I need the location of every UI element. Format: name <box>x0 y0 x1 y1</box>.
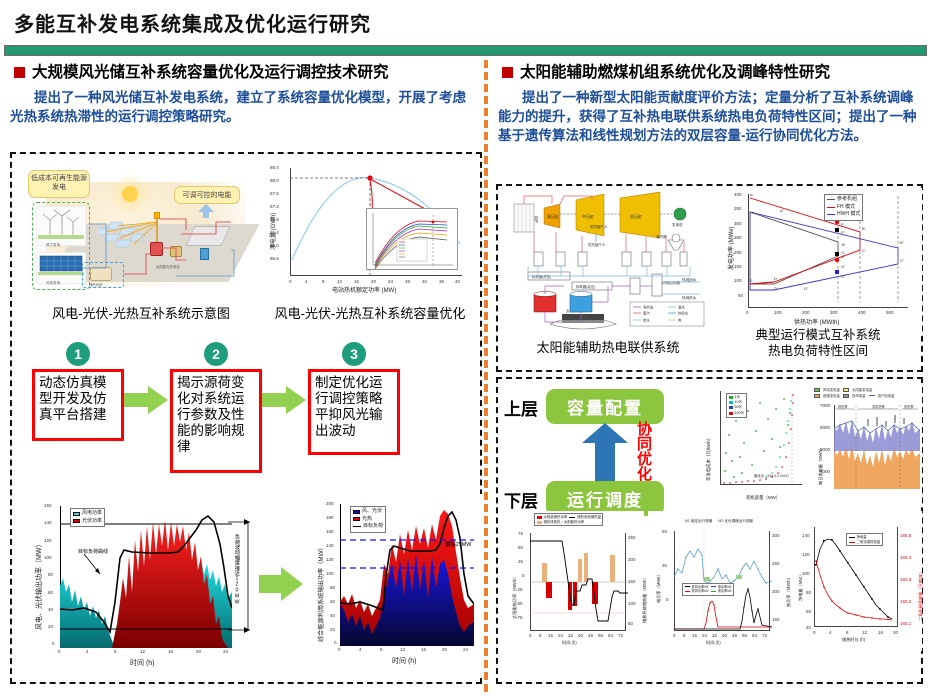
storage-xlabel: 时间 (h) <box>562 640 577 646</box>
before-chart-legend: 风电功率 光伏功率 <box>70 508 105 527</box>
svg-text:高压缸: 高压缸 <box>547 213 559 219</box>
process-flow: 1 动态仿真模型开发及仿真平台搭建 2 揭示源荷变化对系统运行参数及性能的影响规… <box>32 342 400 473</box>
svg-text:蒸汽: 蒸汽 <box>643 311 650 316</box>
dispatch-xlabel: 时间 (h) <box>706 640 721 646</box>
scatter-legend: 1代 10代 50代 400代 <box>726 393 747 418</box>
schematic-caption: 风电-光伏-光热互补系统示意图 <box>18 306 264 322</box>
flow-badge-3: 3 <box>342 342 366 366</box>
energy-stack-chart: 风电发电量 太阳能发电量 燃煤发电量 弃风电量 用户用电量 <box>810 385 922 507</box>
title-rule <box>4 45 927 56</box>
svg-text:热网回水: 热网回水 <box>682 277 697 282</box>
flow-step-3[interactable]: 3 制定优化运行调控策略平抑风光输出波动 <box>308 342 400 455</box>
storage-legend: 太阳能储热功率 储热系统储热量 储热场放热／太阳能热功率 <box>534 513 603 526</box>
left-content-panel: 低成本可再生能源发电 可调可控的电能 风力发电 <box>10 152 482 684</box>
svg-text:A: A <box>752 210 755 215</box>
svg-text:导热油: 导热油 <box>643 305 654 310</box>
legend-wind-pv: 风、光伏 <box>362 508 382 516</box>
characteristic-caption-l2: 热电负荷特性区间 <box>714 344 922 360</box>
left-section-heading: 大规模风光储互补系统容量优化及运行调控技术研究 <box>4 60 482 86</box>
svg-text:B": B" <box>900 240 905 245</box>
svg-text:非供热季: 非供热季 <box>872 405 886 409</box>
svg-text:D': D' <box>774 286 778 291</box>
stack-legend: 风电发电量 太阳能发电量 燃煤发电量 弃风电量 用户用电量 <box>814 387 920 398</box>
svg-text:凝汽器: 凝汽器 <box>656 234 667 239</box>
dispatch-compare-chart: M1 固定运行策略 M2 优化调峰运行调度 <box>648 511 788 651</box>
upper-layer-label: 上层 <box>504 395 538 420</box>
dispatch-title-right: M2 优化调峰运行调度 <box>718 519 753 524</box>
svg-text:F': F' <box>841 222 844 227</box>
capacity-xlabel: 电站热机额定功率 (MW) <box>332 285 396 294</box>
svg-text:发电机: 发电机 <box>672 222 683 227</box>
flow-step-2[interactable]: 2 揭示源荷变化对系统运行参数及性能的影响规律 <box>170 342 262 473</box>
fluctuation-annotation: 负荷波动幅度接近120MW <box>234 534 241 606</box>
before-ylabel: 风电、光伏输出功率（MW） <box>34 541 44 630</box>
duration-xlabel: 储热时长 (h) <box>842 637 865 643</box>
svg-text:A": A" <box>780 208 785 213</box>
svg-text:F": F" <box>841 230 845 235</box>
svg-text:热网水: 热网水 <box>678 311 689 316</box>
svg-text:G': G' <box>841 264 845 269</box>
svg-text:除氧器(高压): 除氧器(高压) <box>576 284 595 289</box>
bullet-square-icon <box>14 67 25 78</box>
legend-fh-mode: FH 模式 <box>837 204 855 212</box>
page-title: 多能互补发电系统集成及优化运行研究 <box>14 8 371 37</box>
thermal-system-caption: 太阳能辅助热电联供系统 <box>502 340 714 356</box>
storage-ylabel: 太阳能热功率（MWth） <box>512 575 518 619</box>
dispatch-legend: 弃风功率M1 电功率M1 弃风功率M2 电功率M2 <box>682 583 734 596</box>
legend-pv-power: 光伏功率 <box>82 518 102 526</box>
legend-discharge: 储热场放热／太阳能热功率 <box>544 520 585 525</box>
duration-ylabel-right: 二氧化碳排放量（万吨/年） <box>918 570 924 621</box>
svg-text:供热抽汽 A: 供热抽汽 A <box>590 224 608 229</box>
flow-box-2: 揭示源荷变化对系统运行参数及性能的影响规律 <box>170 369 262 473</box>
dispatch-ylabel: 电功率（MWe） <box>656 572 662 603</box>
capacity-chart: 88.4 88.0 87.6 87.2 86.8 86.4 86.0 85.6 … <box>260 162 474 304</box>
svg-text:供热抽汽 B: 供热抽汽 B <box>588 242 606 247</box>
after-chart-legend: 风、光伏 光热 目标负荷 <box>350 506 386 533</box>
legend-wind-power: 风电功率 <box>82 510 102 518</box>
svg-text:A': A' <box>750 194 754 197</box>
scatter-optimum-annotation: 最优点（344.6,0.2613） <box>754 473 791 478</box>
svg-text:G: G <box>841 254 844 259</box>
legend-curtail-m2: 弃风功率M2 <box>692 589 709 594</box>
left-column: 大规模风光储互补系统容量优化及运行调控技术研究 提出了一种风光储互补发电系统，建… <box>4 60 482 692</box>
duration-ylabel: 净电量（MW） <box>798 573 804 601</box>
legend-gen-400: 400代 <box>735 411 745 416</box>
schematic-figure: 低成本可再生能源发电 可调可控的电能 风力发电 <box>26 164 252 304</box>
flow-badge-1: 1 <box>66 342 90 366</box>
svg-text:低压缸: 低压缸 <box>630 213 642 219</box>
legend-power-m2: 电功率M2 <box>718 589 732 594</box>
right-panel-top: 高压缸 中压缸 低压缸 发电机 锅炉 凝汽器 <box>496 184 923 372</box>
svg-text:B': B' <box>862 226 866 231</box>
lower-layer-label: 下层 <box>504 487 538 512</box>
duration-legend: 净电量 二氧化碳排放量 <box>846 533 883 546</box>
capacity-ylabel: 净电量 (GWh) <box>268 213 277 250</box>
right-heading-text: 太阳能辅助燃煤机组系统优化及调峰特性研究 <box>520 64 830 81</box>
svg-text:B: B <box>842 242 845 247</box>
legend-hwh-mode: HWH 模式 <box>837 211 860 219</box>
after-xlabel: 时间 (h) <box>392 656 417 666</box>
svg-text:E: E <box>750 278 753 283</box>
svg-text:中压缸: 中压缸 <box>582 213 594 219</box>
left-heading-text: 大规模风光储互补系统容量优化及运行调控技术研究 <box>32 64 389 81</box>
characteristic-legend: 参考机组 FH 模式 HWH 模式 <box>824 194 863 221</box>
swing-annotation: 摆幅25MW <box>445 540 471 548</box>
right-column: 太阳能辅助燃煤机组系统优化及调峰特性研究 提出了一种新型太阳能贡献度评价方法；定… <box>492 60 927 692</box>
characteristic-chart: A'AA" FF'F" B'BC C'B"C" GG'G" EDD'D" 参考机… <box>716 188 922 336</box>
svg-text:热网加热器: 热网加热器 <box>662 280 680 285</box>
svg-text:C': C' <box>862 248 866 253</box>
svg-text:给水: 给水 <box>643 318 650 323</box>
legend-wind-energy: 风电发电量 <box>823 387 840 392</box>
right-panel-bottom: 上层 容量配置 协同优化 下层 运行调度 <box>496 377 923 684</box>
after-chart: 风、光伏 光热 目标负荷 摆幅25MW 200 180 160 140 120 … <box>306 494 482 678</box>
scatter-ylabel: 年发电成本（元/kWh） <box>706 436 712 481</box>
capacity-chart-caption: 风电-光伏-光热互补系统容量优化 <box>262 306 478 322</box>
characteristic-caption-l1: 典型运行模式互补系统 <box>714 328 922 344</box>
thermal-system-diagram: 高压缸 中压缸 低压缸 发电机 锅炉 凝汽器 <box>504 190 710 338</box>
legend-coal-energy: 燃煤发电量 <box>823 393 840 398</box>
svg-text:G": G" <box>841 274 846 279</box>
svg-text:除氧器(低压): 除氧器(低压) <box>532 274 551 279</box>
legend-curtailed-wind: 弃风电量 <box>852 393 866 398</box>
left-section-body: 提出了一种风光储互补发电系统，建立了系统容量优化模型，开展了考虑光热系统热滞性的… <box>4 86 482 126</box>
bullet-square-icon-2 <box>502 67 513 78</box>
characteristic-xlabel: 供热功率 (MWth) <box>794 317 839 326</box>
flow-badge-2: 2 <box>204 342 228 366</box>
svg-text:D: D <box>774 276 777 281</box>
legend-reference-unit: 参考机组 <box>837 196 857 204</box>
flow-box-3: 制定优化运行调控策略平抑风光输出波动 <box>308 369 400 455</box>
legend-target-load: 目标负荷 <box>363 523 383 531</box>
svg-text:供热季: 供热季 <box>904 405 914 409</box>
after-ylabel: 综合能源利用系统输出功率（MW） <box>316 544 325 642</box>
flow-step-1[interactable]: 1 动态仿真模型开发及仿真平台搭建 <box>32 342 124 441</box>
storage-duration-chart: 净电量 二氧化碳排放量 140 120 100 80 60 40 160.5 1… <box>792 511 922 651</box>
column-divider <box>484 60 488 692</box>
stack-ylabel: 每日发电量（MWh） <box>818 446 824 485</box>
before-chart: 风电功率 光伏功率 目标负荷曲线 负荷波动 <box>20 496 256 678</box>
convergence-scatter-chart: 1代 10代 50代 400代 最优点（344.6,0.2613） 装机容量（M… <box>696 385 808 507</box>
right-section-heading: 太阳能辅助燃煤机组系统优化及调峰特性研究 <box>492 60 927 86</box>
flow-box-1: 动态仿真模型开发及仿真平台搭建 <box>32 369 124 441</box>
storage-power-chart: 太阳能储热功率 储热系统储热量 储热场放热／太阳能热功率 <box>504 511 644 651</box>
legend-solar-energy: 太阳能发电量 <box>852 387 872 392</box>
svg-text:供热季: 供热季 <box>838 405 848 409</box>
characteristic-ylabel: 发电功率 (MWe) <box>726 226 735 270</box>
svg-text:D": D" <box>804 286 809 291</box>
svg-text:凝水: 凝水 <box>678 305 685 310</box>
legend-csp: 光热 <box>362 516 372 524</box>
svg-text:锅炉: 锅炉 <box>534 216 539 223</box>
svg-text:C": C" <box>900 258 905 263</box>
right-section-body: 提出了一种新型太阳能贡献度评价方法；定量分析了互补系统调峰能力的提升，获得了互补… <box>492 86 927 145</box>
legend-user-demand: 用户用电量 <box>878 393 895 398</box>
svg-text:热网供水: 热网供水 <box>682 295 697 300</box>
capacity-config-pill[interactable]: 容量配置 <box>546 389 664 424</box>
before-xlabel: 时间 (h) <box>130 658 155 668</box>
bilevel-diagram: 上层 容量配置 协同优化 下层 运行调度 <box>504 387 704 511</box>
dispatch-title-left: M1 固定运行策略 <box>685 519 713 524</box>
legend-co2: 二氧化碳排放量 <box>857 540 881 545</box>
characteristic-caption: 典型运行模式互补系统 热电负荷特性区间 <box>714 328 922 359</box>
scatter-xlabel: 装机容量（MW） <box>746 495 780 501</box>
